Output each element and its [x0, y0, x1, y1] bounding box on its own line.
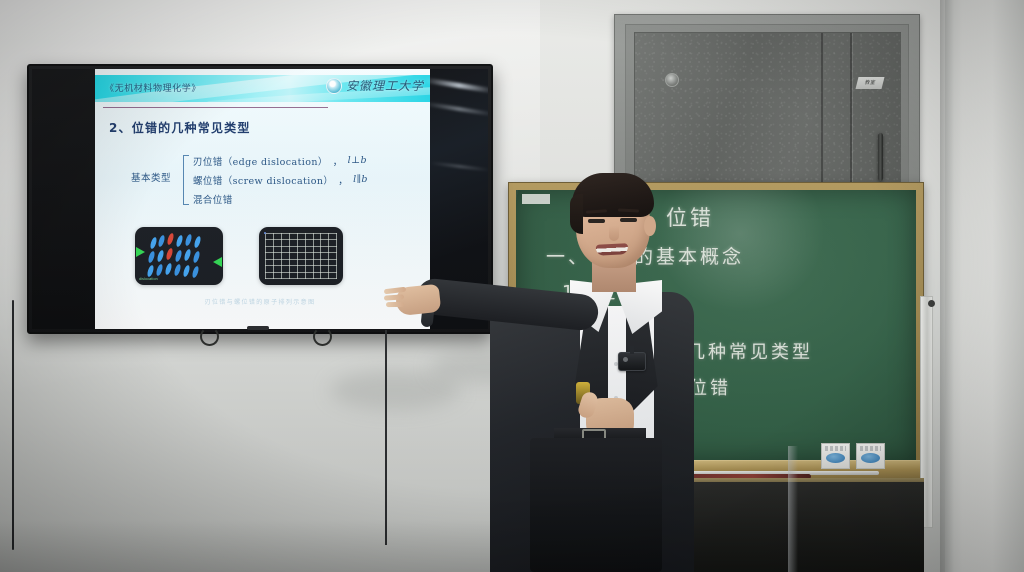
slide-type-item: 螺位错（screw dislocation） ， l∥b [193, 170, 368, 189]
hair-sideburn [570, 194, 583, 234]
wall-right-column [945, 0, 1024, 572]
finger [386, 302, 404, 307]
eye [588, 219, 605, 223]
slide-type-item: 混合位错 [193, 189, 368, 208]
display-brand-logo-icon [247, 326, 269, 330]
microphone-clip [630, 346, 634, 354]
shirt-placket [788, 446, 798, 572]
slide-heading: 2、位错的几种常见类型 [109, 119, 251, 136]
classroom-door[interactable]: 教室 [614, 14, 920, 196]
lattice-grid [265, 233, 337, 279]
tv-wall-mount-bracket [313, 327, 332, 346]
figure-crystal-lattice [259, 227, 343, 285]
type-symbol: l∥b [353, 174, 368, 185]
lecture-video-frame: 教室 位错 一、位错的基本概念 1、定义 二、 的几种常见类型 刃位错 [0, 0, 1024, 572]
lapel-microphone [618, 352, 646, 371]
presenter [404, 176, 694, 572]
hair [572, 173, 654, 217]
slide-type-list: 刃位错（edge dislocation） ， l⊥b 螺位错（screw di… [193, 151, 368, 208]
microphone-led-icon [623, 357, 628, 362]
figure-edge-dislocation: dislocation [135, 227, 223, 285]
chalk-box[interactable] [856, 443, 885, 469]
wall-corner-shadow [940, 0, 954, 572]
type-name-cn: 混合位错 [193, 192, 233, 206]
type-name-cn: 刃位错（edge dislocation） [193, 154, 328, 168]
door-leaf: 教室 [634, 32, 901, 194]
chalk-box-logo-icon [861, 453, 880, 463]
board-rail-knob [928, 300, 935, 307]
power-cable [385, 330, 387, 545]
door-seam [850, 33, 852, 194]
slide-type-item: 刃位错（edge dislocation） ， l⊥b [193, 151, 368, 170]
type-name-cn: 螺位错（screw dislocation） [193, 173, 333, 187]
door-peephole-icon [665, 73, 679, 87]
door-frame-inner: 教室 [625, 24, 909, 195]
type-symbol: l⊥b [348, 155, 367, 166]
door-seam [821, 33, 823, 194]
screen-letterbox-left [32, 69, 95, 329]
slide-footnote: 刃位错与螺位错的原子排列示意图 [125, 297, 395, 306]
podium [690, 482, 924, 572]
slide-figures: dislocation [119, 227, 409, 289]
ear [644, 216, 656, 236]
presentation-slide: 《无机材料物理化学》 安徽理工大学 2、位错的几种常见类型 基本类型 刃位错（e… [95, 69, 430, 329]
arrow-right-icon [136, 247, 145, 257]
university-name: 安徽理工大学 [346, 77, 424, 94]
chalk-box-logo-icon [826, 453, 845, 463]
chalk-box-text [825, 446, 846, 451]
door-handle[interactable] [878, 133, 883, 181]
door-texture [635, 33, 901, 194]
eye [620, 218, 637, 222]
slide-brace-label: 基本类型 [131, 170, 171, 184]
power-cable [12, 300, 14, 550]
university-brand: 安徽理工大学 [326, 77, 424, 94]
mouth [596, 243, 629, 256]
tv-wall-mount-bracket [200, 327, 219, 346]
slide-course-title: 《无机材料物理化学》 [105, 81, 201, 94]
type-sep: ， [333, 154, 343, 168]
brace-icon [183, 155, 189, 205]
type-sep: ， [338, 173, 348, 187]
door-label: 教室 [856, 77, 885, 89]
figure-caption: dislocation [139, 277, 158, 281]
arrow-left-icon [213, 257, 222, 267]
university-logo-icon [326, 78, 342, 94]
nose [609, 226, 619, 241]
chalk-box[interactable] [821, 443, 850, 469]
slide-divider [103, 107, 328, 108]
trousers [530, 438, 662, 572]
chalk-box-text [860, 446, 881, 451]
